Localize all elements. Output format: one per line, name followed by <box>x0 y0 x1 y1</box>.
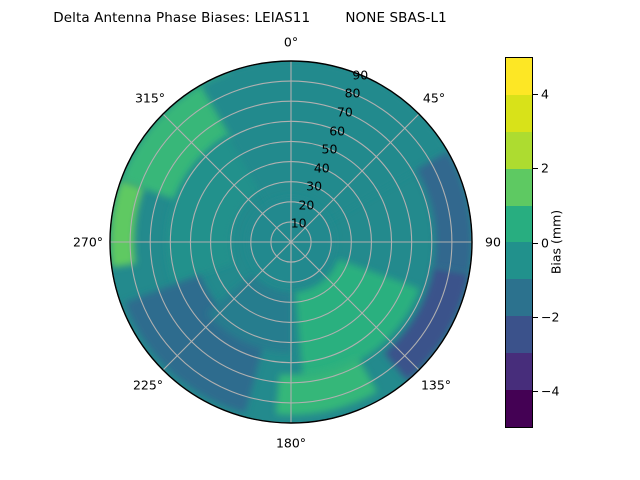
colorbar-segment <box>506 242 532 279</box>
colorbar-tick-label: 2 <box>541 161 549 176</box>
colorbar-segment <box>506 206 532 243</box>
colorbar-tick-mark <box>533 317 538 318</box>
colorbar-tick-mark <box>533 391 538 392</box>
colorbar-tick-label: −2 <box>541 309 559 324</box>
colorbar-tick-mark <box>533 243 538 244</box>
theta-tick-label: 270° <box>73 235 103 250</box>
theta-tick-label: 225° <box>133 378 163 393</box>
page-title: Delta Antenna Phase Biases: LEIAS11 NONE… <box>0 10 500 26</box>
r-tick-label: 80 <box>345 86 361 101</box>
r-tick-label: 50 <box>322 142 338 157</box>
r-tick-label: 90 <box>352 67 368 82</box>
theta-tick-label: 45° <box>423 91 445 106</box>
figure-canvas: Delta Antenna Phase Biases: LEIAS11 NONE… <box>0 0 640 480</box>
colorbar-segment <box>506 390 532 427</box>
colorbar-tick-mark <box>533 168 538 169</box>
colorbar-segment <box>506 95 532 132</box>
theta-tick-label: 135° <box>421 378 451 393</box>
colorbar-segment <box>506 316 532 353</box>
polar-grid <box>110 61 472 423</box>
colorbar-segment <box>506 132 532 169</box>
colorbar-segment <box>506 58 532 95</box>
colorbar-segment <box>506 353 532 390</box>
r-tick-label: 70 <box>337 104 353 119</box>
colorbar-tick-label: 4 <box>541 87 549 102</box>
colorbar-segment <box>506 279 532 316</box>
colorbar-gradient <box>505 57 533 428</box>
r-tick-label: 30 <box>306 179 322 194</box>
colorbar-tick-label: −4 <box>541 383 559 398</box>
theta-tick-label: 180° <box>276 436 306 451</box>
r-tick-label: 60 <box>329 123 345 138</box>
polar-plot <box>109 60 473 424</box>
polar-plot-svg <box>109 60 473 424</box>
colorbar-segment <box>506 169 532 206</box>
r-tick-label: 20 <box>298 197 314 212</box>
colorbar-axis-label: Bias (mm) <box>549 210 564 274</box>
r-tick-label: 40 <box>314 160 330 175</box>
theta-tick-label: 90 <box>485 235 501 250</box>
colorbar-tick-mark <box>533 94 538 95</box>
theta-tick-label: 315° <box>135 91 165 106</box>
colorbar <box>505 57 533 428</box>
r-tick-label: 10 <box>291 216 307 231</box>
theta-tick-label: 0° <box>284 35 298 50</box>
